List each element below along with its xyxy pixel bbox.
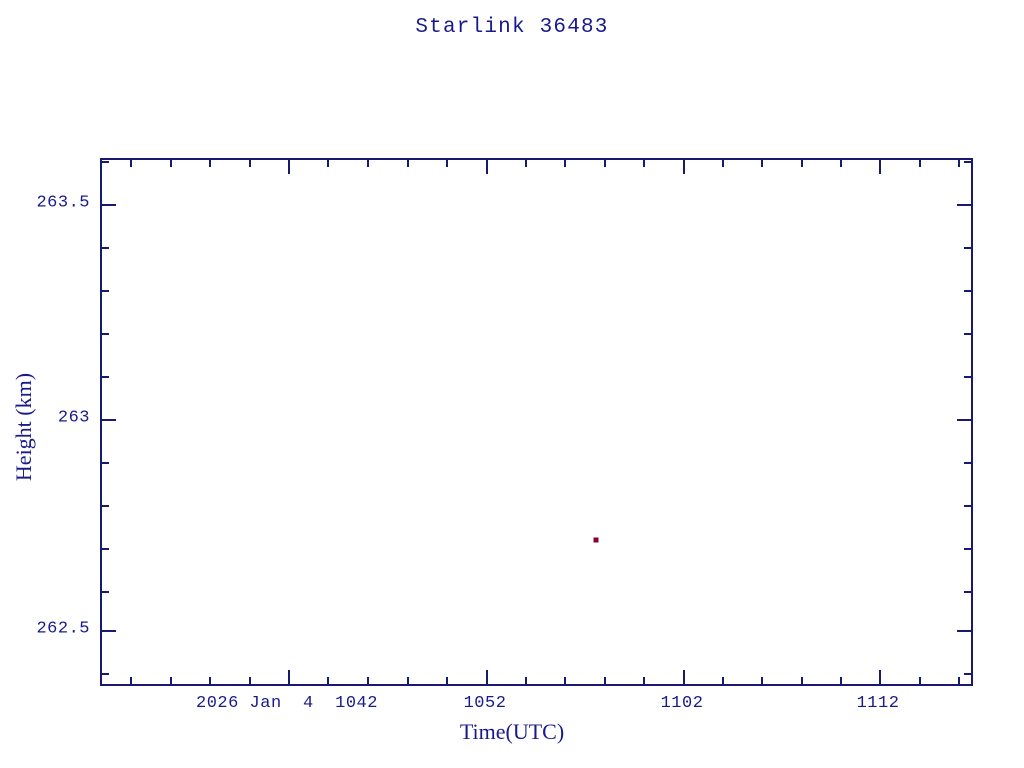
axis-tick [964, 673, 971, 675]
axis-tick [801, 677, 803, 684]
axis-tick [964, 161, 971, 163]
axis-tick [879, 670, 881, 684]
y-tick-label-1: 263 [30, 409, 90, 428]
axis-tick [367, 677, 369, 684]
x-tick-label-3: 1112 [857, 694, 900, 713]
axis-tick [964, 247, 971, 249]
axis-tick [564, 677, 566, 684]
axis-tick [102, 673, 109, 675]
axis-tick [102, 204, 116, 206]
axis-tick [964, 290, 971, 292]
axis-tick [102, 419, 116, 421]
x-tick-label-1: 1052 [464, 694, 507, 713]
axis-tick [130, 677, 132, 684]
y-tick-label-2: 262.5 [30, 620, 90, 639]
axis-tick [957, 630, 971, 632]
axis-tick [801, 160, 803, 167]
axis-tick [604, 160, 606, 167]
axis-tick [327, 677, 329, 684]
axis-tick [761, 160, 763, 167]
x-tick-label-0: 2026 Jan 4 1042 [196, 694, 378, 713]
axis-tick [288, 160, 290, 174]
x-axis-title: Time(UTC) [0, 719, 1024, 745]
data-point-0 [594, 538, 599, 543]
axis-tick [957, 419, 971, 421]
axis-tick [525, 160, 527, 167]
axis-tick [102, 161, 109, 163]
axis-tick [249, 677, 251, 684]
axis-tick [964, 376, 971, 378]
axis-tick [683, 160, 685, 174]
axis-tick [102, 290, 109, 292]
axis-tick [486, 160, 488, 174]
axis-tick [643, 160, 645, 167]
axis-tick [102, 462, 109, 464]
axis-tick [604, 677, 606, 684]
axis-tick [209, 677, 211, 684]
plot-frame [100, 158, 973, 686]
axis-tick [722, 160, 724, 167]
axis-tick [958, 677, 960, 684]
axis-tick [102, 505, 109, 507]
axis-tick [367, 160, 369, 167]
axis-tick [102, 376, 109, 378]
axis-tick [919, 677, 921, 684]
axis-tick [964, 462, 971, 464]
axis-tick [486, 670, 488, 684]
page-title: Starlink 36483 [0, 16, 1024, 39]
axis-tick [919, 160, 921, 167]
x-tick-label-2: 1102 [661, 694, 704, 713]
axis-tick [525, 677, 527, 684]
plot-canvas: Starlink 36483 Height (km) Time(UTC) 263… [0, 0, 1024, 768]
y-tick-label-0: 263.5 [30, 194, 90, 213]
axis-tick [964, 591, 971, 593]
axis-tick [879, 160, 881, 174]
axis-tick [643, 677, 645, 684]
axis-tick [564, 160, 566, 167]
axis-tick [964, 548, 971, 550]
axis-tick [102, 630, 116, 632]
axis-tick [102, 333, 109, 335]
axis-tick [722, 677, 724, 684]
axis-tick [288, 670, 290, 684]
axis-tick [130, 160, 132, 167]
axis-tick [170, 677, 172, 684]
axis-tick [964, 333, 971, 335]
axis-tick [249, 160, 251, 167]
axis-tick [957, 204, 971, 206]
axis-tick [446, 160, 448, 167]
axis-tick [327, 160, 329, 167]
axis-tick [446, 677, 448, 684]
axis-tick [958, 160, 960, 167]
axis-tick [407, 160, 409, 167]
axis-tick [170, 160, 172, 167]
axis-tick [102, 591, 109, 593]
axis-tick [840, 677, 842, 684]
axis-tick [209, 160, 211, 167]
axis-tick [102, 247, 109, 249]
axis-tick [683, 670, 685, 684]
axis-tick [761, 677, 763, 684]
axis-tick [407, 677, 409, 684]
axis-tick [102, 548, 109, 550]
axis-tick [964, 505, 971, 507]
axis-tick [840, 160, 842, 167]
